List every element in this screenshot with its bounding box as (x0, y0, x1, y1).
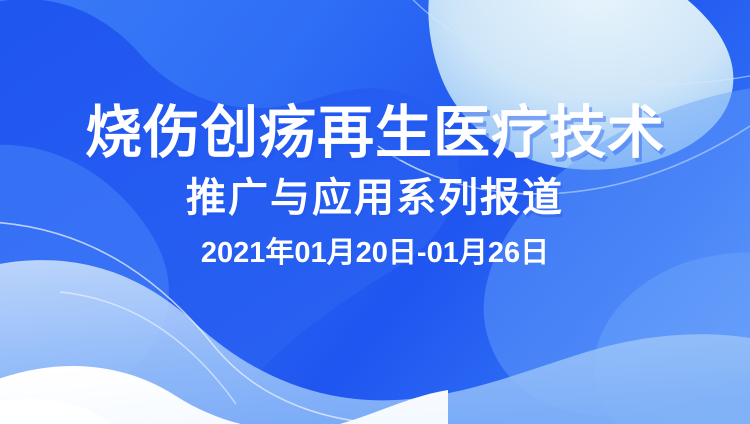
banner-subtitle: 推广与应用系列报道 (186, 177, 564, 219)
banner-content: 烧伤创疡再生医疗技术 推广与应用系列报道 2021年01月20日-01月26日 (0, 0, 750, 424)
banner-title: 烧伤创疡再生医疗技术 (85, 104, 665, 163)
promo-banner: 烧伤创疡再生医疗技术 推广与应用系列报道 2021年01月20日-01月26日 (0, 0, 750, 424)
banner-date-range: 2021年01月20日-01月26日 (201, 238, 549, 268)
